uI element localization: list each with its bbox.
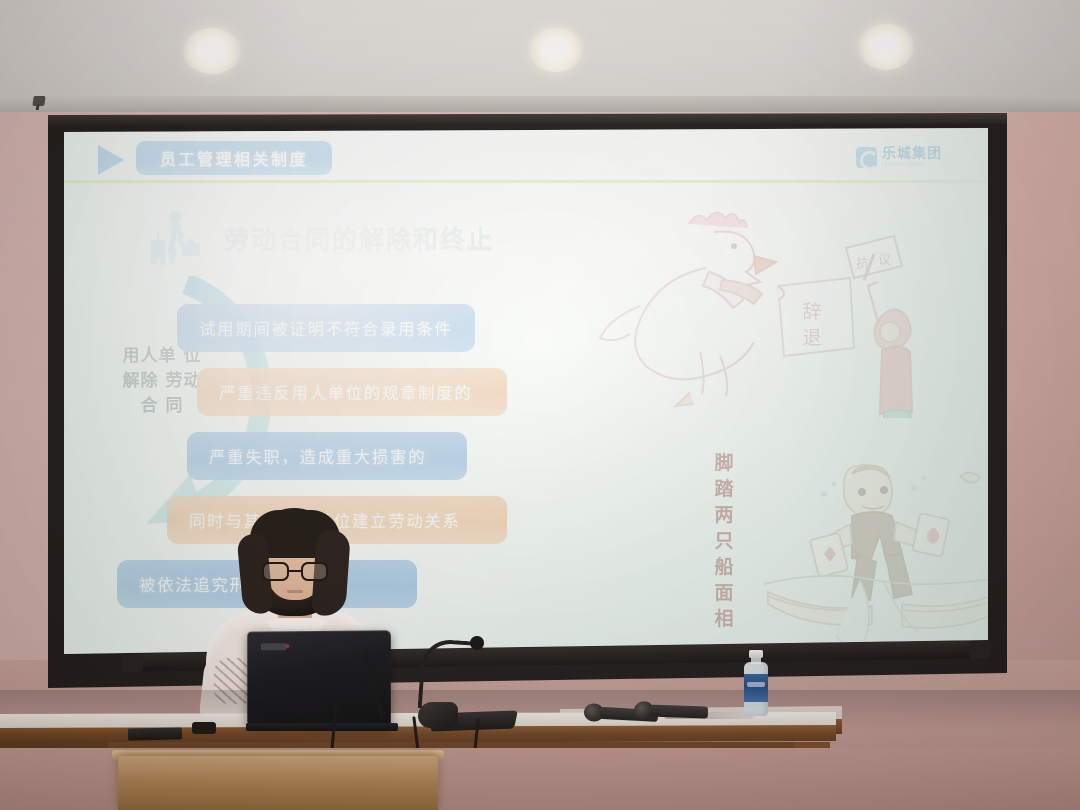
vcap-5: 面 bbox=[709, 580, 739, 606]
vcap-2: 两 bbox=[709, 502, 739, 528]
mic-body-2 bbox=[650, 705, 708, 719]
presenter-mouth bbox=[287, 590, 303, 593]
glasses-lens-right bbox=[301, 562, 328, 581]
laptop-logo-icon bbox=[261, 643, 286, 650]
glasses-lens-left bbox=[262, 562, 289, 581]
screen-roller-housing bbox=[45, 113, 1007, 125]
svg-text:辞: 辞 bbox=[802, 301, 821, 323]
vcap-6: 相 bbox=[709, 606, 739, 632]
small-object-on-desk bbox=[192, 722, 216, 734]
downlight-core-right bbox=[870, 33, 901, 60]
condition-text-2: 严重违反用人单位的规章制度的 bbox=[219, 380, 472, 404]
bottle-label bbox=[744, 674, 768, 702]
vcap-0: 脚 bbox=[709, 450, 739, 476]
condition-text-1: 试用期间被证明不符合录用条件 bbox=[199, 316, 452, 340]
gooseneck-microphone[interactable] bbox=[390, 640, 520, 735]
vertical-caption: 脚 踏 两 只 船 面 相 bbox=[709, 450, 739, 632]
glasses-bridge bbox=[289, 570, 301, 572]
downlight-core-left bbox=[196, 36, 228, 64]
bottle-neck bbox=[751, 657, 761, 664]
projection-screen: 员工管理相关制度 乐城集团 LECHENG GROUP bbox=[41, 113, 1007, 693]
svg-text:抗: 抗 bbox=[856, 257, 869, 272]
svg-text:退: 退 bbox=[802, 327, 821, 349]
vcap-4: 船 bbox=[709, 554, 739, 580]
conference-room-photo: 员工管理相关制度 乐城集团 LECHENG GROUP bbox=[0, 0, 1080, 810]
vcap-3: 只 bbox=[709, 528, 739, 554]
laptop-hinge bbox=[246, 723, 398, 731]
bottle-cap bbox=[749, 650, 763, 658]
sprinkler-icon bbox=[32, 96, 45, 106]
two-boats-cartoon bbox=[764, 458, 988, 653]
condition-row-3: 严重失职，造成重大损害的 bbox=[187, 432, 467, 480]
condition-text-3: 严重失职，造成重大损害的 bbox=[209, 444, 426, 468]
svg-text:议: 议 bbox=[878, 253, 891, 268]
water-bottle[interactable] bbox=[742, 650, 770, 716]
condition-row-2: 严重违反用人单位的规章制度的 bbox=[197, 368, 507, 416]
glasses-icon bbox=[262, 562, 328, 581]
phone-on-desk bbox=[128, 727, 182, 740]
lectern bbox=[118, 756, 438, 810]
downlight-core-center bbox=[541, 36, 570, 62]
condition-row-1: 试用期间被证明不符合录用条件 bbox=[177, 304, 475, 352]
laptop-lid bbox=[247, 630, 390, 725]
vcap-1: 踏 bbox=[709, 476, 739, 502]
rooster-dismissal-cartoon: 辞 退 抗 议 bbox=[594, 202, 924, 418]
microphone-capsule-icon bbox=[470, 636, 484, 650]
